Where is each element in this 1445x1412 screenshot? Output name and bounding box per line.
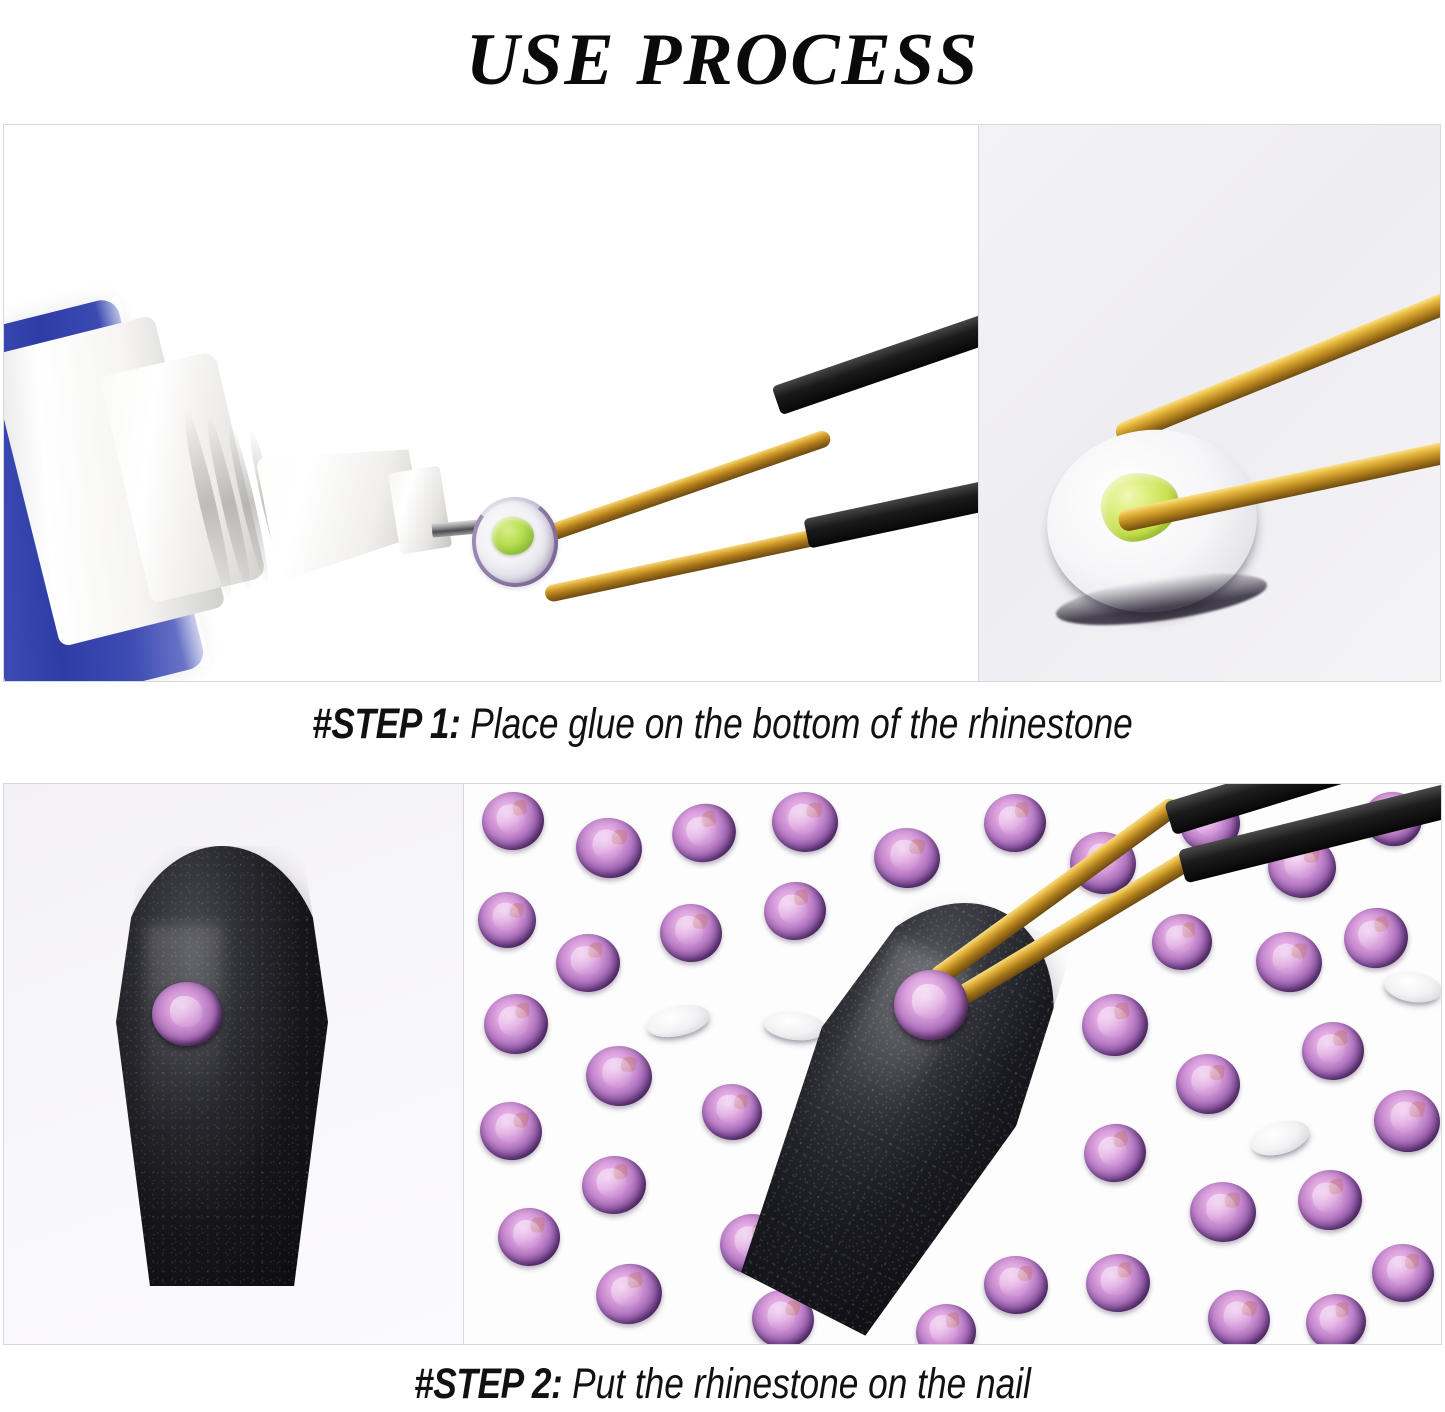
scattered-rhinestone (579, 1153, 649, 1217)
tweezer-black-handle (772, 309, 979, 416)
scattered-rhinestone (982, 791, 1049, 854)
scattered-rhinestone (475, 1097, 546, 1165)
step-2-text: Put the rhinestone on the nail (562, 1360, 1031, 1408)
step-2-panel-row (3, 783, 1442, 1345)
rhinestone-silver-flatback (644, 1000, 713, 1043)
scattered-rhinestone (1370, 1241, 1437, 1304)
finished-nail-photo (3, 783, 464, 1345)
scattered-rhinestone (497, 1206, 562, 1267)
scattered-rhinestone (1370, 1086, 1442, 1157)
step-1-label: #STEP 1: (312, 700, 460, 748)
tweezer-gold-arm (1113, 287, 1441, 446)
scattered-rhinestone (591, 1258, 667, 1329)
tweezer-gold-arm (543, 429, 832, 543)
rhinestone-closeup-photo (978, 124, 1441, 682)
step-2-caption: #STEP 2: Put the rhinestone on the nail (130, 1360, 1315, 1409)
scattered-rhinestone (1188, 1180, 1258, 1244)
step-2-label: #STEP 2: (414, 1360, 562, 1408)
step-1-caption: #STEP 1: Place glue on the bottom of the… (130, 700, 1315, 749)
rhinestone-silver-flatback (1247, 1114, 1313, 1161)
scattered-rhinestone (1083, 1251, 1153, 1315)
scattered-rhinestone (666, 797, 742, 869)
tweezer-black-handle (803, 471, 979, 548)
scattered-rhinestone (981, 1253, 1051, 1317)
scattered-rhinestone (584, 1043, 655, 1109)
scattered-rhinestone (1173, 1051, 1243, 1117)
step-1-text: Place glue on the bottom of the rhinesto… (460, 700, 1132, 748)
scattered-rhinestone (572, 813, 647, 883)
scattered-rhinestone (657, 901, 725, 965)
scattered-rhinestone (699, 1081, 765, 1144)
glue-application-photo (3, 124, 979, 682)
nail-application-photo (463, 783, 1442, 1345)
scattered-rhinestone (770, 790, 840, 854)
scattered-rhinestone (1303, 1291, 1369, 1345)
scattered-rhinestone (1079, 1119, 1150, 1187)
tweezer-gold-arm (544, 524, 841, 603)
infographic-page: USE PROCESS (0, 0, 1445, 1412)
applied-rhinestone (152, 982, 222, 1046)
scattered-rhinestone (1301, 1020, 1366, 1081)
rhinestone-silver-flatback (1382, 968, 1442, 1007)
scattered-rhinestone (555, 932, 622, 993)
scattered-rhinestone (1150, 912, 1214, 972)
scattered-rhinestone (1338, 902, 1413, 974)
step-1-panel-row (3, 124, 1442, 682)
scattered-rhinestone (1203, 1284, 1276, 1345)
scattered-rhinestone (1078, 990, 1152, 1061)
scattered-rhinestone (1294, 1165, 1367, 1234)
scattered-rhinestone (481, 990, 552, 1057)
scattered-rhinestone (1252, 928, 1326, 997)
page-title: USE PROCESS (0, 0, 1445, 120)
rhinestone-being-placed (894, 970, 968, 1040)
scattered-rhinestone (760, 878, 830, 945)
rhinestone-silver-flatback (763, 1009, 828, 1043)
scattered-rhinestone (914, 1302, 978, 1345)
black-press-on-nail (116, 846, 328, 1286)
scattered-rhinestone (479, 789, 547, 853)
scattered-rhinestone (473, 887, 541, 954)
